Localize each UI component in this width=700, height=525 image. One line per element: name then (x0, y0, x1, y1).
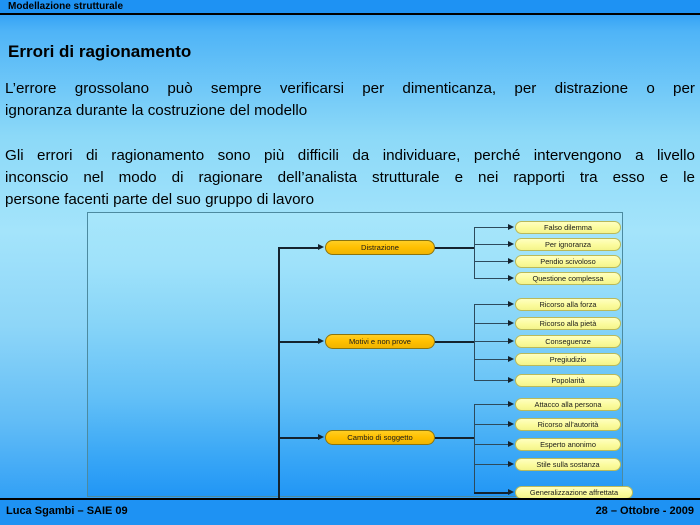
page-title: Errori di ragionamento (8, 42, 191, 62)
branch-1-child-spine (474, 227, 475, 278)
branch-1-child-line-3 (474, 261, 510, 262)
paragraph-1: L’errore grossolano può sempre verificar… (5, 78, 695, 122)
branch-3-child-line-1 (474, 404, 510, 405)
node-pendio-scivoloso[interactable]: Pendio scivoloso (515, 255, 621, 268)
node-stile-sulla-sostanza[interactable]: Stile sulla sostanza (515, 458, 621, 471)
branch-2-child-arrow-3 (508, 338, 514, 344)
node-esperto-anonimo[interactable]: Esperto anonimo (515, 438, 621, 451)
paragraph-2-line-3: persone facenti parte del suo gruppo di … (5, 189, 695, 211)
node-motivi-e-non-prove[interactable]: Motivi e non prove (325, 334, 435, 349)
branch-3-child-line-3 (474, 444, 510, 445)
branch-2-child-line-3 (474, 341, 510, 342)
branch-3-child-line-2 (474, 424, 510, 425)
node-conseguenze[interactable]: Conseguenze (515, 335, 621, 348)
branch-2-child-arrow-1 (508, 301, 514, 307)
slide-footer-bar: Luca Sgambi – SAIE 09 28 – Ottobre - 200… (0, 498, 700, 525)
branch-1-child-arrow-1 (508, 224, 514, 230)
branch-3-child-line-4 (474, 464, 510, 465)
branch-3-out-line (435, 437, 474, 439)
branch-2-arrowhead (318, 338, 324, 344)
branch-1-stem-line (279, 247, 319, 249)
node-ricorso-alla-pieta[interactable]: Ricorso alla pietà (515, 317, 621, 330)
node-pregiudizio[interactable]: Pregiudizio (515, 353, 621, 366)
branch-2-out-line (435, 341, 474, 343)
branch-3-child-arrow-2 (508, 421, 514, 427)
paragraph-2-line-2: inconscio nel modo di ragionare dell’ana… (5, 167, 695, 189)
branch-2-child-line-2 (474, 323, 510, 324)
branch-1-child-line-4 (474, 278, 510, 279)
branch-3-child-arrow-5 (508, 489, 514, 495)
branch-1-child-line-2 (474, 244, 510, 245)
node-cambio-di-soggetto[interactable]: Cambio di soggetto (325, 430, 435, 445)
branch-2-child-spine (474, 304, 475, 381)
node-falso-dilemma[interactable]: Falso dilemma (515, 221, 621, 234)
branch-2-child-line-1 (474, 304, 510, 305)
branch-1-child-arrow-4 (508, 275, 514, 281)
node-per-ignoranza[interactable]: Per ignoranza (515, 238, 621, 251)
paragraph-1-line-2: ignoranza durante la costruzione del mod… (5, 100, 695, 122)
trunk-vertical-line (278, 247, 280, 498)
branch-1-child-arrow-2 (508, 241, 514, 247)
node-distrazione[interactable]: Distrazione (325, 240, 435, 255)
branch-3-child-arrow-1 (508, 401, 514, 407)
reasoning-errors-diagram: Distrazione Falso dilemma Per ignoranza … (87, 212, 623, 497)
paragraph-1-line-1: L’errore grossolano può sempre verificar… (5, 78, 695, 100)
branch-1-child-line-1 (474, 227, 510, 228)
branch-3-child-line-5 (474, 492, 510, 494)
branch-2-child-arrow-5 (508, 377, 514, 383)
branch-3-stem-line (279, 437, 319, 439)
node-questione-complessa[interactable]: Questione complessa (515, 272, 621, 285)
branch-3-child-arrow-4 (508, 461, 514, 467)
branch-1-arrowhead (318, 244, 324, 250)
slide-header-bar: Modellazione strutturale (0, 0, 700, 15)
paragraph-2-line-1: Gli errori di ragionamento sono più diff… (5, 145, 695, 167)
branch-2-child-line-5 (474, 380, 510, 381)
branch-3-child-arrow-3 (508, 441, 514, 447)
branch-1-out-line (435, 247, 474, 249)
branch-2-child-arrow-2 (508, 320, 514, 326)
node-popolarita[interactable]: Popolarità (515, 374, 621, 387)
paragraph-2: Gli errori di ragionamento sono più diff… (5, 145, 695, 211)
branch-2-child-line-4 (474, 359, 510, 360)
branch-3-child-spine (474, 404, 475, 493)
slide: Modellazione strutturale Errori di ragio… (0, 0, 700, 525)
footer-date: 28 – Ottobre - 2009 (596, 505, 694, 517)
footer-author: Luca Sgambi – SAIE 09 (6, 505, 128, 517)
branch-2-stem-line (279, 341, 319, 343)
node-ricorso-all-autorita[interactable]: Ricorso all’autorità (515, 418, 621, 431)
node-ricorso-alla-forza[interactable]: Ricorso alla forza (515, 298, 621, 311)
header-title: Modellazione strutturale (8, 1, 123, 12)
branch-1-child-arrow-3 (508, 258, 514, 264)
branch-2-child-arrow-4 (508, 356, 514, 362)
node-attacco-alla-persona[interactable]: Attacco alla persona (515, 398, 621, 411)
branch-3-arrowhead (318, 434, 324, 440)
